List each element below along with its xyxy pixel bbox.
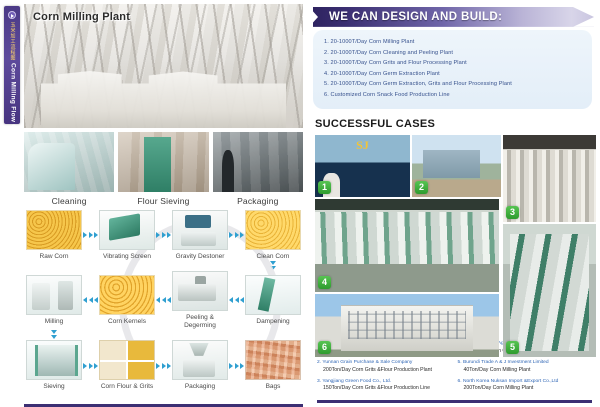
flow-arrow-left-icon [82, 297, 99, 303]
case-photo-grid: 1 2 3 4 5 6 [315, 135, 592, 336]
case-photo-3: 3 [503, 135, 596, 222]
peeling-degerming-label: Peeling & Degerming [172, 311, 228, 329]
capability-item: 6. Customized Corn Snack Food Production… [324, 90, 583, 101]
case-caption-3-title: 3. Yangjiang Green Food Co., Ltd. [317, 379, 450, 386]
flow-node-raw-corn: Raw Corn [26, 210, 82, 260]
photo-flour-sieving-label: Flour Sieving [118, 192, 208, 208]
hero-photo: Corn Milling Plant [24, 4, 303, 128]
clean-corn-image [245, 210, 301, 250]
case-photo-5: 5 [503, 224, 596, 357]
clean-corn-label: Clean Corn [245, 250, 301, 260]
flow-node-corn-kernels: Corn Kernels [99, 275, 155, 325]
flow-node-milling: Milling [26, 275, 82, 325]
peeling-degerming-image [172, 271, 228, 311]
sidebar-english-label: Corn Milling Flow Chart [9, 63, 16, 143]
left-content: Corn Milling Plant Cleaning Flour Sievin… [24, 4, 303, 407]
flow-node-sieving: Sieving [26, 340, 82, 390]
case-caption-6: 6. North Korea Nuksan Import &Export Co.… [458, 379, 591, 393]
case-caption-5-title: 5. Burundi Trade A & J Investment Limite… [458, 360, 591, 367]
case-caption-3-desc: 150Ton/Day Corn Grits &Flour Production … [317, 385, 450, 392]
milling-label: Milling [26, 315, 82, 325]
case-photo-6: 6 [315, 294, 499, 357]
flow-arrow-right-icon [228, 232, 245, 238]
flow-node-corn-flour-grits: Corn Flour & Grits [99, 340, 155, 390]
flow-node-bags: Bags [245, 340, 301, 390]
milling-image [26, 275, 82, 315]
flow-node-packaging: Packaging [172, 340, 228, 390]
photo-cleaning-label: Cleaning [24, 192, 114, 208]
case-badge-1: 1 [318, 181, 331, 194]
flow-arrow-right-icon [228, 363, 245, 369]
corn-flour-grits-image [99, 340, 155, 380]
flow-arrow-left-icon [228, 297, 245, 303]
raw-corn-image [26, 210, 82, 250]
flow-row-3: Sieving Corn Flour & Grits Packaging [26, 340, 301, 390]
photo-flour-sieving-image [118, 132, 208, 192]
flow-arrow-right-icon [155, 363, 172, 369]
flow-arrow-right-icon [82, 363, 99, 369]
case-caption-3: 3. Yangjiang Green Food Co., Ltd. 150Ton… [317, 379, 450, 393]
right-bottom-rule [317, 400, 592, 403]
flow-arrow-down-icon [51, 330, 57, 339]
flow-row-2: Milling Corn Kernels Peeling & Degerming [26, 271, 301, 329]
vibrating-screen-image [99, 210, 155, 250]
process-photo-packaging: Packaging [213, 132, 303, 208]
raw-corn-label: Raw Corn [26, 250, 82, 260]
flow-node-clean-corn: Clean Corn [245, 210, 301, 260]
right-panel: WE CAN DESIGN AND BUILD: 1. 20-1000T/Day… [307, 0, 600, 407]
case-photo-1: 1 [315, 135, 410, 197]
process-photo-cleaning: Cleaning [24, 132, 114, 208]
bags-image [245, 340, 301, 380]
vibrating-screen-label: Vibrating Screen [99, 250, 155, 260]
flow-arrow-down-left [26, 329, 82, 340]
sidebar-chinese-label: 玉米加工流程图 [10, 22, 15, 61]
successful-cases-title: SUCCESSFUL CASES [315, 118, 594, 130]
flow-node-vibrating-screen: Vibrating Screen [99, 210, 155, 260]
sieving-label: Sieving [26, 380, 82, 390]
flow-node-dampening: Dampening [245, 275, 301, 325]
case-badge-4: 4 [318, 276, 331, 289]
play-arrow-icon [8, 11, 16, 19]
bags-label: Bags [245, 380, 301, 390]
flow-arrow-down-right [245, 260, 301, 271]
capability-item: 2. 20-1000T/Day Corn Cleaning and Peelin… [324, 48, 583, 59]
capability-item: 1. 20-1000T/Day Corn Milling Plant [324, 37, 583, 48]
banner-title: WE CAN DESIGN AND BUILD: [329, 11, 502, 23]
flow-row-1: Raw Corn Vibrating Screen Gravity Deston… [26, 210, 301, 260]
design-build-banner: WE CAN DESIGN AND BUILD: [313, 7, 594, 27]
case-caption-5: 5. Burundi Trade A & J Investment Limite… [458, 360, 591, 374]
dampening-image [245, 275, 301, 315]
packaging-label: Packaging [172, 380, 228, 390]
case-badge-5: 5 [506, 341, 519, 354]
process-photo-row: Cleaning Flour Sieving Packaging [24, 132, 303, 208]
case-caption-2-title: 2. Yunnan Grain Purchase & Sale Company [317, 360, 450, 367]
case-photo-2: 2 [412, 135, 501, 197]
flow-chart: Raw Corn Vibrating Screen Gravity Deston… [24, 208, 303, 402]
capability-item: 4. 20-1000T/Day Corn Germ Extraction Pla… [324, 69, 583, 80]
photo-cleaning-image [24, 132, 114, 192]
corn-kernels-image [99, 275, 155, 315]
gravity-destoner-image [172, 210, 228, 250]
packaging-machine-image [172, 340, 228, 380]
side-tab: 玉米加工流程图 Corn Milling Flow Chart [4, 6, 20, 124]
case-caption-6-desc: 200Ton/Day Corn Milling Plant [458, 385, 591, 392]
photo-packaging-image [213, 132, 303, 192]
photo-packaging-label: Packaging [213, 192, 303, 208]
capability-item: 3. 20-1000T/Day Corn Grits and Flour Pro… [324, 58, 583, 69]
case-badge-3: 3 [506, 206, 519, 219]
flow-arrow-left-icon [155, 297, 172, 303]
case-caption-5-desc: 40Ton/Day Corn Milling Plant [458, 367, 591, 374]
dampening-label: Dampening [245, 315, 301, 325]
capability-card: 1. 20-1000T/Day Corn Milling Plant 2. 20… [313, 30, 592, 109]
left-panel: 玉米加工流程图 Corn Milling Flow Chart Corn Mil… [0, 0, 307, 407]
case-caption-2: 2. Yunnan Grain Purchase & Sale Company … [317, 360, 450, 374]
corn-flour-grits-label: Corn Flour & Grits [99, 380, 155, 390]
flow-arrow-right-icon [155, 232, 172, 238]
case-caption-2-desc: 200Ton/Day Corn Grits &Flour Production … [317, 367, 450, 374]
gravity-destoner-label: Gravity Destoner [172, 250, 228, 260]
sieving-image [26, 340, 82, 380]
corn-kernels-label: Corn Kernels [99, 315, 155, 325]
case-badge-2: 2 [415, 181, 428, 194]
left-inner: 玉米加工流程图 Corn Milling Flow Chart Corn Mil… [4, 4, 303, 407]
capability-list: 1. 20-1000T/Day Corn Milling Plant 2. 20… [324, 37, 583, 101]
brochure-page: 玉米加工流程图 Corn Milling Flow Chart Corn Mil… [0, 0, 600, 407]
case-badge-6: 6 [318, 341, 331, 354]
flow-node-peeling-degerming: Peeling & Degerming [172, 271, 228, 329]
flow-node-gravity-destoner: Gravity Destoner [172, 210, 228, 260]
case-caption-6-title: 6. North Korea Nuksan Import &Export Co.… [458, 379, 591, 386]
case-photo-4: 4 [315, 199, 499, 292]
capability-item: 5. 20-1000T/Day Corn Germ Extraction, Gr… [324, 79, 583, 90]
flow-arrow-right-icon [82, 232, 99, 238]
hero-title: Corn Milling Plant [33, 11, 130, 23]
flow-arrow-down-icon [270, 261, 276, 270]
process-photo-flour-sieving: Flour Sieving [118, 132, 208, 208]
